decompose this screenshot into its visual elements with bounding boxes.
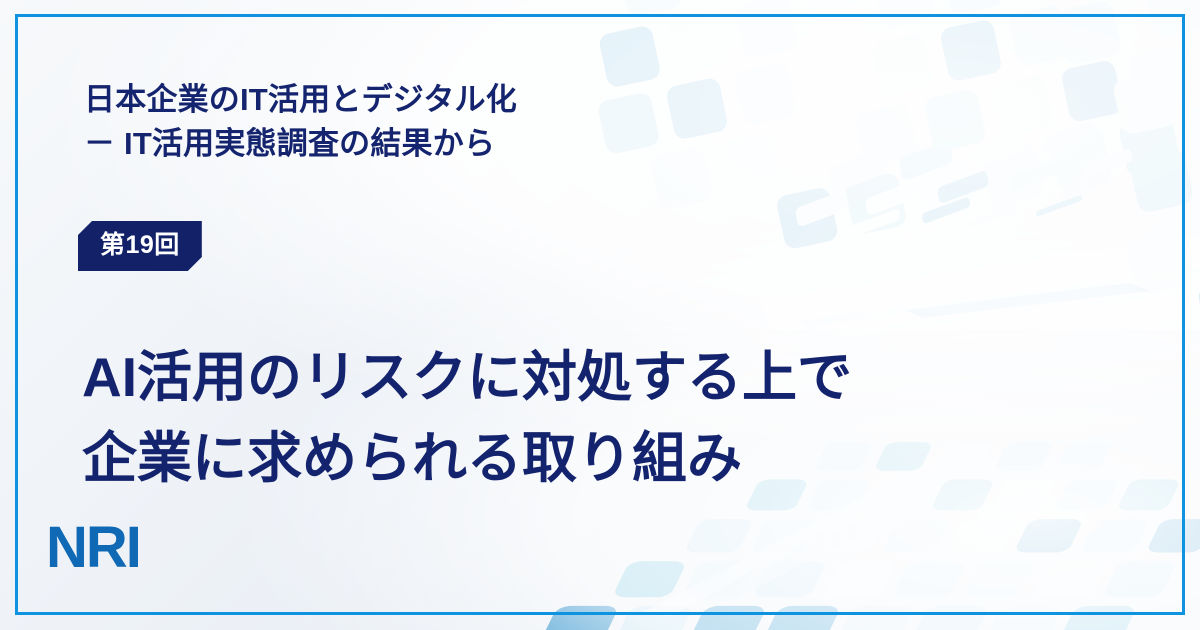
nri-logo: NRI — [46, 519, 140, 577]
episode-badge-wrapper: 第19回 — [78, 221, 202, 271]
title-line-2: 企業に求められる取り組み — [82, 418, 1042, 499]
series-subtitle: 日本企業のIT活用とデジタル化 － IT活用実態調査の結果から — [84, 78, 724, 166]
title-line-1: AI活用のリスクに対処する上で — [82, 337, 1042, 418]
content-layer: 日本企業のIT活用とデジタル化 － IT活用実態調査の結果から 第19回 AI活… — [0, 0, 1200, 630]
series-line-2: － IT活用実態調査の結果から — [84, 122, 724, 166]
kv-banner: 日本企業のIT活用とデジタル化 － IT活用実態調査の結果から 第19回 AI活… — [0, 0, 1200, 630]
episode-badge: 第19回 — [78, 221, 202, 271]
series-line-1: 日本企業のIT活用とデジタル化 — [84, 82, 517, 117]
page-title: AI活用のリスクに対処する上で 企業に求められる取り組み — [82, 337, 1042, 500]
